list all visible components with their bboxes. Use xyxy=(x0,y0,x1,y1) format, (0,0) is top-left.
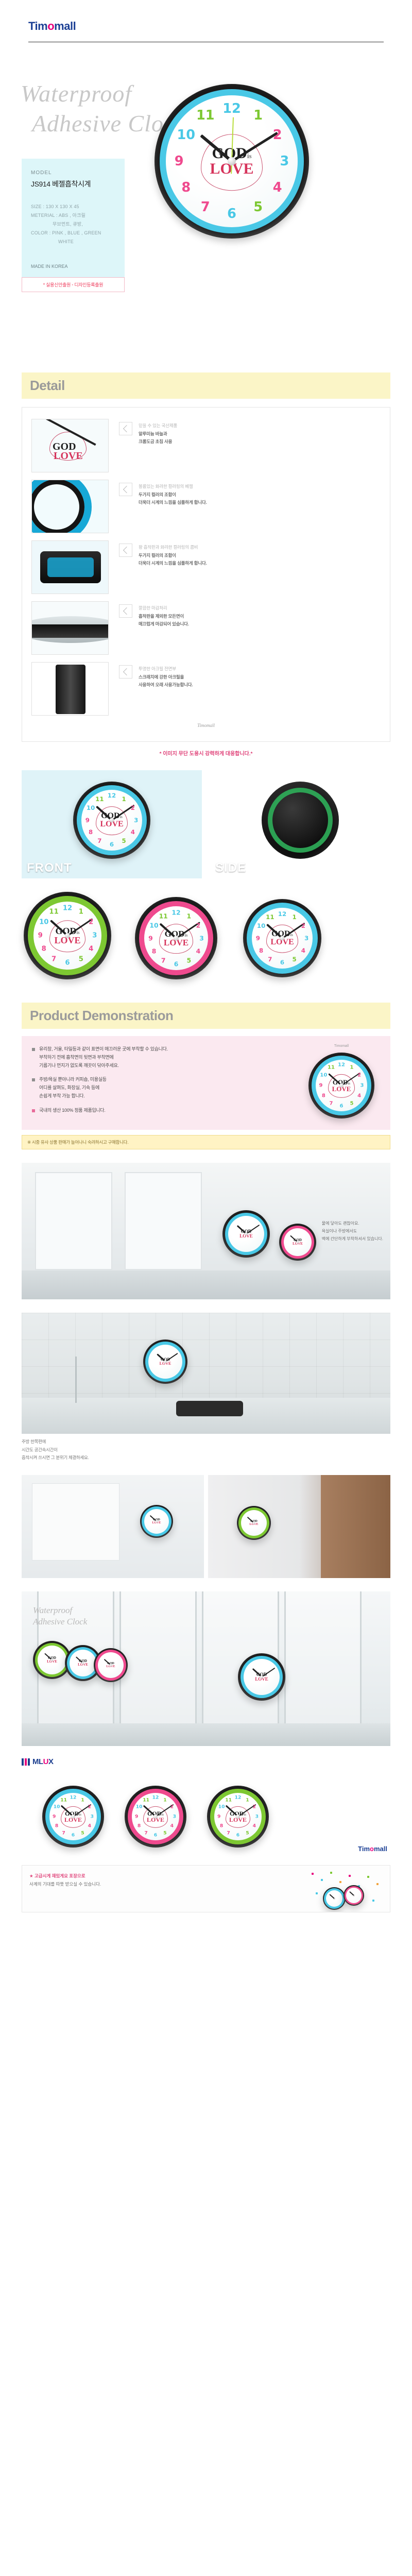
bath-caption-1: 물에 닿아도 괜찮아요. xyxy=(322,1219,383,1227)
clock-numeral: 4 xyxy=(301,947,305,954)
arrow-left-icon xyxy=(119,665,132,679)
clock-numeral: 8 xyxy=(152,947,157,955)
site-header: Timomall xyxy=(0,0,412,33)
clock-numeral: 5 xyxy=(81,1830,84,1836)
demo-list: 유리창, 거울, 타일등과 같이 표면이 매끄러운 곳에 부착할 수 있습니다.… xyxy=(32,1045,303,1121)
brand-logo-dot: o xyxy=(47,20,54,32)
clock-numeral: 3 xyxy=(304,935,308,942)
clock-numeral: 7 xyxy=(227,1830,230,1836)
clock-numeral: 10 xyxy=(87,804,95,811)
clock-numeral: 4 xyxy=(170,1823,174,1829)
clock-numeral: 1 xyxy=(122,795,126,803)
clock-numeral: 8 xyxy=(181,180,191,195)
clock-numeral: 3 xyxy=(360,1083,364,1089)
clock-numeral: 11 xyxy=(328,1065,335,1071)
clock-numeral: 11 xyxy=(159,912,168,920)
hero-title-line1: Waterproof xyxy=(21,80,132,107)
kitchen-caption-3: 흡착시켜 쓰시면 그 분위기 체결하세요. xyxy=(22,1454,390,1462)
clock-variant-green[interactable]: GODis LOVE 121234567891011 xyxy=(24,892,111,979)
hero-clock-image: GODis LOVE 121234567891011 xyxy=(154,84,309,239)
clock-variant-pink[interactable]: GODis LOVE 121234567891011 xyxy=(135,897,217,979)
detail-note: 볼륨있는 화려한 컬러링의 베젤 두가지 컬러의 조합이 더욱더 시계의 느낌을… xyxy=(119,480,207,507)
footer-brand-pre: Tim xyxy=(358,1845,370,1853)
detail-copyright-caption: * 이미지 무단 도용시 강력하게 대응합니다.* xyxy=(0,749,412,757)
product-detail-page: Timomall Waterproof Adhesive Clock MODEL… xyxy=(0,0,412,1912)
bottom-clock-strip: GODisLOVE 121234567891011 GODisLOVE xyxy=(22,1782,390,1859)
detail-note-body-1: 알루미늄 바늘과 xyxy=(139,430,177,438)
demo-heading: Product Demonstration xyxy=(22,1003,390,1029)
detail-row: 투명한 아크릴 전면부 스크래치에 강한 아크릴을 사용하여 오래 사용가능합니… xyxy=(31,662,381,716)
clock-numeral: 7 xyxy=(144,1830,147,1836)
bottom-clock-blue[interactable]: GODisLOVE 121234567891011 xyxy=(42,1786,104,1848)
clock-numeral: 12 xyxy=(108,792,116,799)
detail-thumbnail xyxy=(31,601,109,655)
clock-numeral: 1 xyxy=(186,912,191,920)
clock-numeral: 5 xyxy=(350,1100,354,1106)
patent-notice-right: 디자인등록출원 xyxy=(74,282,103,287)
clock-numeral: 1 xyxy=(350,1065,354,1071)
detail-note-body-2: 매끄럽게 마감되어 있습니다. xyxy=(139,620,189,629)
demo-clock-caption: Timomall xyxy=(303,1044,380,1048)
clock-numeral: 6 xyxy=(340,1104,344,1109)
list-item: 주방/욕실 뿐아니라 커피숍, 미용실등 어디를 살펴도, 화장실, 기숙 등에… xyxy=(32,1076,303,1100)
demo-item-text: 국내의 생산 100% 정품 제품입니다. xyxy=(39,1107,106,1115)
clock-numeral: 3 xyxy=(91,1814,94,1819)
demo-item-text: 유리창, 거울, 타일등과 같이 표면이 매끄러운 곳에 부착할 수 있습니다.… xyxy=(39,1045,168,1070)
clock-numeral: 5 xyxy=(292,956,296,963)
bullet-icon xyxy=(32,1109,35,1112)
clock-numeral: 7 xyxy=(51,955,56,963)
bath-caption-2: 욕실이나 주방에서도 xyxy=(322,1227,383,1235)
side-view-image[interactable]: SIDE xyxy=(210,770,390,878)
detail-thumbnail: GOD LOVE xyxy=(31,419,109,472)
detail-note-title: 왕 흡착판과 화려한 컬러링의 콤비 xyxy=(139,544,207,552)
clock-numeral: 2 xyxy=(89,918,93,926)
detail-note-body-1: 두가지 컬러의 조합이 xyxy=(139,491,207,499)
clock-numeral: 12 xyxy=(278,910,286,918)
clock-numeral: 9 xyxy=(175,154,184,169)
list-item: 국내의 생산 100% 정품 제품입니다. xyxy=(32,1107,303,1115)
clock-numeral: 9 xyxy=(38,932,43,940)
mlux-mark-icon xyxy=(22,1758,30,1766)
detail-signature: Timomall xyxy=(31,723,381,728)
clock-numeral: 5 xyxy=(122,837,126,844)
clock-numeral: 12 xyxy=(235,1794,242,1800)
bathroom-side-note: 물에 닿아도 괜찮아요. 욕실이나 주방에서도 벽에 간단하게 부착하셔서 있습… xyxy=(322,1219,383,1243)
clock-numeral: 8 xyxy=(89,828,93,836)
kitchen-caption-1: 주방 한쪽편에 xyxy=(22,1438,390,1446)
detail-note-text: 투명한 아크릴 전면부 스크래치에 강한 아크릴을 사용하여 오래 사용가능합니… xyxy=(139,665,193,689)
clock-numeral: 9 xyxy=(217,1814,220,1819)
clock-numeral: 11 xyxy=(95,795,104,803)
clock-numeral: 11 xyxy=(143,1797,149,1803)
clock-numeral: 7 xyxy=(161,956,166,964)
clock-numeral: 9 xyxy=(53,1814,56,1819)
glass-scene: Waterproof Adhesive Clock GODLOVE xyxy=(22,1591,390,1746)
spec-made-in: MADE IN KOREA xyxy=(31,264,115,269)
detail-note-body-2: 더욱더 시계의 느낌을 심플하게 합니다. xyxy=(139,499,207,507)
clock-numeral: 5 xyxy=(79,955,83,963)
clock-numeral: 5 xyxy=(253,199,263,215)
clock-numeral: 7 xyxy=(97,837,101,844)
clock-numeral: 12 xyxy=(171,909,180,917)
clock-numeral: 3 xyxy=(280,154,289,169)
clock-numeral: 9 xyxy=(319,1083,323,1089)
clock-numeral: 7 xyxy=(330,1100,333,1106)
clock-numeral: 9 xyxy=(135,1814,138,1819)
clock-numeral: 12 xyxy=(70,1794,77,1800)
clock-numeral: 1 xyxy=(246,1797,249,1803)
clock-numeral: 8 xyxy=(42,945,46,953)
detail-heading: Detail xyxy=(22,372,390,399)
demo-clock-image: Timomall GODis LOVE 121234567891011 xyxy=(303,1045,380,1121)
spec-box: MODEL JS914 베젤흡착시계 SIZE : 130 X 130 X 45… xyxy=(22,159,125,281)
demo-tip: ※ 시중 유사 상품 판매가 늘어나니 숙려하시고 구매합니다. xyxy=(22,1135,390,1149)
clock-numeral: 2 xyxy=(170,1804,174,1810)
patent-notice: * 실용신안출원 • 디자인등록출원 xyxy=(22,277,125,292)
photo-pair: GODLOVE GODLOVE xyxy=(22,1475,390,1578)
detail-note-body-1: 스크래치에 강한 아크릴을 xyxy=(139,673,193,682)
clock-numeral: 1 xyxy=(163,1797,166,1803)
clock-numeral: 10 xyxy=(149,922,158,929)
detail-note: 왕 흡착판과 화려한 컬러링의 콤비 두가지 컬러의 조합이 더욱더 시계의 느… xyxy=(119,540,207,568)
arrow-left-icon xyxy=(119,544,132,557)
detail-row: 왕 흡착판과 화려한 컬러링의 콤비 두가지 컬러의 조합이 더욱더 시계의 느… xyxy=(31,540,381,594)
clock-numeral: 10 xyxy=(54,1804,60,1810)
clock-numeral: 10 xyxy=(136,1804,143,1810)
clock-numeral: 9 xyxy=(256,935,260,942)
glass-script-1: Waterproof xyxy=(33,1605,87,1616)
color-variants-gallery: GODis LOVE 121234567891011 GODis LOVE xyxy=(22,892,390,1003)
clock-numeral: 12 xyxy=(338,1062,345,1068)
footer-brand-post: mall xyxy=(374,1845,387,1853)
clock-numeral: 4 xyxy=(253,1823,256,1829)
mlux-text: MLUX xyxy=(32,1757,54,1766)
detail-note-body-1: 흡착판을 제외한 모든면이 xyxy=(139,613,189,621)
front-side-gallery: GODis LOVE 121234567891011 FRONT SIDE xyxy=(22,770,390,878)
confetti-decoration xyxy=(307,1870,385,1909)
clock-numeral: 6 xyxy=(236,1833,239,1838)
detail-note-title: 깔끔한 마감처리 xyxy=(139,604,189,613)
clock-numeral: 1 xyxy=(79,908,83,916)
clock-face: GODis LOVE 121234567891011 xyxy=(166,95,298,227)
front-label: FRONT xyxy=(27,861,72,875)
detail-panel: GOD LOVE 믿을 수 있는 국산제품 알루미늄 바늘과 크롬도금 초침 사… xyxy=(22,407,390,742)
mlux-post: X xyxy=(48,1757,54,1766)
clock-numeral: 3 xyxy=(173,1814,176,1819)
demo-box: 유리창, 거울, 타일등과 같이 표면이 매끄러운 곳에 부착할 수 있습니다.… xyxy=(22,1036,390,1130)
clock-numeral: 7 xyxy=(268,956,272,963)
photo-glass-wall: Waterproof Adhesive Clock GODLOVE xyxy=(22,1591,390,1746)
spec-color-cont: WHITE xyxy=(31,238,115,246)
bullet-icon xyxy=(32,1078,35,1081)
clock-numeral: 2 xyxy=(301,922,305,929)
clock-numeral: 4 xyxy=(88,1823,91,1829)
door-scene: GODLOVE xyxy=(208,1475,390,1578)
kitchen-caption-2: 시간도 공간속시간이 xyxy=(22,1446,390,1454)
clock-numeral: 6 xyxy=(110,841,114,848)
demo-item-text: 주방/욕실 뿐아니라 커피숍, 미용실등 어디를 살펴도, 화장실, 기숙 등에… xyxy=(39,1076,107,1100)
clock-numeral: 12 xyxy=(222,101,241,116)
bath-caption-3: 벽에 간단하게 부착하셔서 있습니다. xyxy=(322,1235,383,1243)
clock-numeral: 2 xyxy=(253,1804,256,1810)
clock-numeral: 1 xyxy=(81,1797,84,1803)
face-text-is: is xyxy=(247,152,252,160)
clock-numeral: 8 xyxy=(220,1823,223,1829)
front-view-image[interactable]: GODis LOVE 121234567891011 FRONT xyxy=(22,770,202,878)
detail-note-text: 볼륨있는 화려한 컬러링의 베젤 두가지 컬러의 조합이 더욱더 시계의 느낌을… xyxy=(139,483,207,507)
arrow-left-icon xyxy=(119,483,132,496)
clock-numeral: 7 xyxy=(62,1830,65,1836)
clock-numeral: 10 xyxy=(218,1804,225,1810)
clock-numeral: 2 xyxy=(196,922,201,929)
clock-numeral: 9 xyxy=(148,935,153,942)
hero-section: Waterproof Adhesive Clock MODEL JS914 베젤… xyxy=(0,43,412,372)
spec-lines: SIZE : 130 X 130 X 45 METERIAL : ABS , 아… xyxy=(31,202,115,246)
detail-thumbnail xyxy=(31,662,109,716)
mlux-x: U xyxy=(43,1757,48,1766)
clock-numeral: 9 xyxy=(85,817,90,824)
clock-numeral: 6 xyxy=(174,960,179,968)
detail-note-body-2: 더욱더 시계의 느낌을 심플하게 합니다. xyxy=(139,560,207,568)
clock-numeral: 3 xyxy=(199,935,204,942)
clock-numeral: 2 xyxy=(88,1804,91,1810)
clock-numeral: 10 xyxy=(39,918,48,926)
clock-numeral: 8 xyxy=(322,1093,325,1099)
patent-notice-sep: • xyxy=(72,282,73,287)
footer-brand-dot: o xyxy=(370,1845,374,1853)
detail-note-body-2: 크롬도금 초침 사용 xyxy=(139,438,177,446)
office-scene: GODLOVE xyxy=(22,1475,204,1578)
arrow-left-icon xyxy=(119,604,132,618)
detail-note-text: 믿을 수 있는 국산제품 알루미늄 바늘과 크롬도금 초침 사용 xyxy=(139,422,177,446)
clock-numeral: 8 xyxy=(55,1823,58,1829)
patent-notice-left: * 실용신안출원 xyxy=(43,282,71,287)
clock-numeral: 1 xyxy=(292,913,296,921)
clock-numeral: 3 xyxy=(134,817,138,824)
detail-note-body-2: 사용하여 오래 사용가능합니다. xyxy=(139,681,193,689)
clock-numeral: 2 xyxy=(131,804,135,811)
clock-numeral: 10 xyxy=(320,1073,327,1078)
clock-numeral: 11 xyxy=(266,913,274,921)
photo-kitchen: GODLOVE 주방 한쪽편에 시간도 공간속시간이 흡착시켜 쓰시면 그 분위… xyxy=(22,1313,390,1462)
clock-numeral: 10 xyxy=(177,127,196,143)
clock-numeral: 6 xyxy=(280,959,284,966)
detail-row: 깔끔한 마감처리 흡착판을 제외한 모든면이 매끄럽게 마감되어 있습니다. xyxy=(31,601,381,655)
clock-numeral: 12 xyxy=(63,905,72,912)
bottom-clock-green[interactable]: GODisLOVE 121234567891011 xyxy=(207,1786,269,1848)
clock-variant-blue[interactable]: GODis LOVE 121234567891011 xyxy=(243,899,321,977)
clock-numeral: 1 xyxy=(253,108,263,123)
bottom-clock-pink[interactable]: GODisLOVE 121234567891011 xyxy=(125,1786,186,1848)
detail-note-title: 볼륨있는 화려한 컬러링의 베젤 xyxy=(139,483,207,491)
clock-numeral: 6 xyxy=(72,1833,75,1838)
kitchen-caption: 주방 한쪽편에 시간도 공간속시간이 흡착시켜 쓰시면 그 분위기 체결하세요. xyxy=(22,1438,390,1462)
clock-numeral: 2 xyxy=(273,127,282,143)
photo-bathroom: GODLOVE GODLOVE xyxy=(22,1163,390,1299)
clock-numeral: 5 xyxy=(163,1830,166,1836)
clock-numeral: 6 xyxy=(227,206,236,222)
clock-numeral: 4 xyxy=(357,1093,361,1099)
clock-numeral: 11 xyxy=(196,108,215,123)
clock-numeral: 4 xyxy=(89,945,93,953)
clock-numeral: 4 xyxy=(273,180,282,195)
detail-note: 믿을 수 있는 국산제품 알루미늄 바늘과 크롬도금 초침 사용 xyxy=(119,419,177,446)
detail-note-title: 투명한 아크릴 전면부 xyxy=(139,665,193,673)
detail-thumbnail xyxy=(31,540,109,594)
arrow-left-icon xyxy=(119,422,132,435)
spec-color: COLOR : PINK , BLUE , GREEN xyxy=(31,229,115,238)
detail-note-title: 믿을 수 있는 국산제품 xyxy=(139,422,177,430)
spec-model: JS914 베젤흡착시계 xyxy=(31,179,115,189)
spec-size: SIZE : 130 X 130 X 45 xyxy=(31,202,115,211)
detail-note-body-1: 두가지 컬러의 조합이 xyxy=(139,552,207,560)
clock-numeral: 3 xyxy=(92,932,97,940)
detail-note-text: 깔끔한 마감처리 흡착판을 제외한 모든면이 매끄럽게 마감되어 있습니다. xyxy=(139,604,189,629)
clock-numeral: 6 xyxy=(154,1833,157,1838)
clock-numeral: 5 xyxy=(186,956,191,964)
detail-note-text: 왕 흡착판과 화려한 컬러링의 콤비 두가지 컬러의 조합이 더욱더 시계의 느… xyxy=(139,544,207,568)
clock-numeral: 8 xyxy=(138,1823,141,1829)
clock-numeral: 6 xyxy=(65,959,70,967)
hand-cap xyxy=(228,157,236,165)
detail-note: 투명한 아크릴 전면부 스크래치에 강한 아크릴을 사용하여 오래 사용가능합니… xyxy=(119,662,193,689)
clock-numeral: 11 xyxy=(60,1797,67,1803)
clock-numeral: 11 xyxy=(225,1797,232,1803)
clock-numeral: 3 xyxy=(255,1814,259,1819)
clock-numeral: 2 xyxy=(357,1073,361,1078)
mlux-pre: ML xyxy=(32,1757,43,1766)
detail-thumbnail xyxy=(31,480,109,533)
list-item: 유리창, 거울, 타일등과 같이 표면이 매끄러운 곳에 부착할 수 있습니다.… xyxy=(32,1045,303,1070)
clock-numeral: 8 xyxy=(259,947,263,954)
glass-brand-script: Waterproof Adhesive Clock xyxy=(33,1605,87,1628)
spec-label: MODEL xyxy=(31,170,115,176)
clock-numeral: 7 xyxy=(201,199,210,215)
brand-logo-pre: Tim xyxy=(28,20,47,32)
clock-numeral: 4 xyxy=(131,828,135,836)
spec-material: METERIAL : ABS , 아크릴 xyxy=(31,211,115,220)
brand-logo-post: mall xyxy=(54,20,76,32)
kitchen-scene: GODLOVE xyxy=(22,1313,390,1434)
bathroom-scene: GODLOVE GODLOVE xyxy=(22,1163,390,1299)
clock-numeral: 12 xyxy=(152,1794,159,1800)
brand-logo[interactable]: Timomall xyxy=(28,20,412,33)
side-label: SIDE xyxy=(215,861,246,875)
clock-numeral: 10 xyxy=(257,922,265,929)
clock-numeral: 11 xyxy=(49,908,58,916)
footer-tip-box: ★ 고급시게 재밌게요 포장으로 사계의 기대를 따뜻 받으실 수 있습니다. xyxy=(22,1865,390,1912)
bullet-icon xyxy=(32,1048,35,1051)
detail-note: 깔끔한 마감처리 흡착판을 제외한 모든면이 매끄럽게 마감되어 있습니다. xyxy=(119,601,189,629)
clock-graphic: GODis LOVE 121234567891011 xyxy=(154,84,309,239)
mlux-logo[interactable]: MLUX xyxy=(22,1757,54,1766)
footer-brand-logo[interactable]: Timomall xyxy=(358,1845,387,1853)
clock-numeral: 4 xyxy=(196,947,201,955)
detail-row: GOD LOVE 믿을 수 있는 국산제품 알루미늄 바늘과 크롬도금 초침 사… xyxy=(31,419,381,472)
detail-row: 볼륨있는 화려한 컬러링의 베젤 두가지 컬러의 조합이 더욱더 시계의 느낌을… xyxy=(31,480,381,533)
spec-material-cont: 무브먼트, 큐방, xyxy=(31,220,115,229)
clock-numeral: 5 xyxy=(246,1830,249,1836)
glass-script-2: Adhesive Clock xyxy=(33,1616,87,1628)
